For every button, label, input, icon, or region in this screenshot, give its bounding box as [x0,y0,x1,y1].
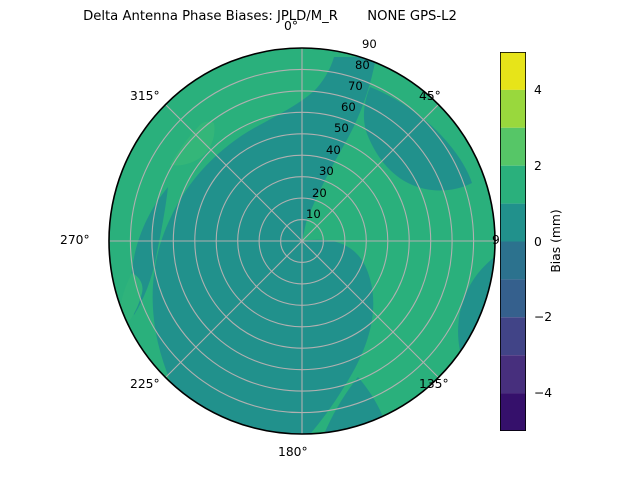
r-label-10: 10 [306,207,321,221]
theta-label-270: 270° [60,233,90,247]
colorbar-band-minus3-minus2 [500,317,526,355]
colorbar-band-1-2 [500,166,526,204]
r-label-60: 60 [341,100,356,114]
colorbar-band-minus1-0 [500,242,526,280]
colorbar-title: Bias (mm) [549,209,563,272]
colorbar-band-minus2-minus1 [500,279,526,317]
colorbar-band-4-5 [500,52,526,90]
theta-label-315: 315° [130,89,160,103]
colorbar-tick-label-0: 0 [534,235,542,249]
colorbar[interactable]: 4 2 0 −2 −4 [500,52,526,431]
figure-canvas: Delta Antenna Phase Biases: JPLD/M_R NON… [0,0,640,480]
r-label-20: 20 [312,186,327,200]
colorbar-band-minus4-minus3 [500,355,526,393]
colorbar-band-0-1 [500,204,526,242]
colorbar-tick-label-2: 2 [534,159,542,173]
theta-label-180: 180° [278,445,308,459]
r-label-30: 30 [319,164,334,178]
colorbar-band-2-3 [500,128,526,166]
theta-label-45: 45° [419,89,441,103]
r-label-50: 50 [334,121,349,135]
polar-plot[interactable]: 0° 45° 90 135° 180° 225° 270° 315° 10 20… [108,47,496,435]
theta-label-135: 135° [419,377,449,391]
r-label-80: 80 [355,58,370,72]
r-label-40: 40 [326,143,341,157]
r-label-90: 90 [362,37,377,51]
colorbar-band-minus5-minus4 [500,393,526,431]
colorbar-tick-label-4: 4 [534,83,542,97]
colorbar-band-3-4 [500,90,526,128]
theta-label-225: 225° [130,377,160,391]
colorbar-svg [500,52,526,431]
figure-title: Delta Antenna Phase Biases: JPLD/M_R NON… [0,9,540,24]
colorbar-tick-label-minus2: −2 [534,310,552,324]
theta-label-0: 0° [284,19,298,33]
r-label-70: 70 [348,79,363,93]
colorbar-tick-label-minus4: −4 [534,386,552,400]
